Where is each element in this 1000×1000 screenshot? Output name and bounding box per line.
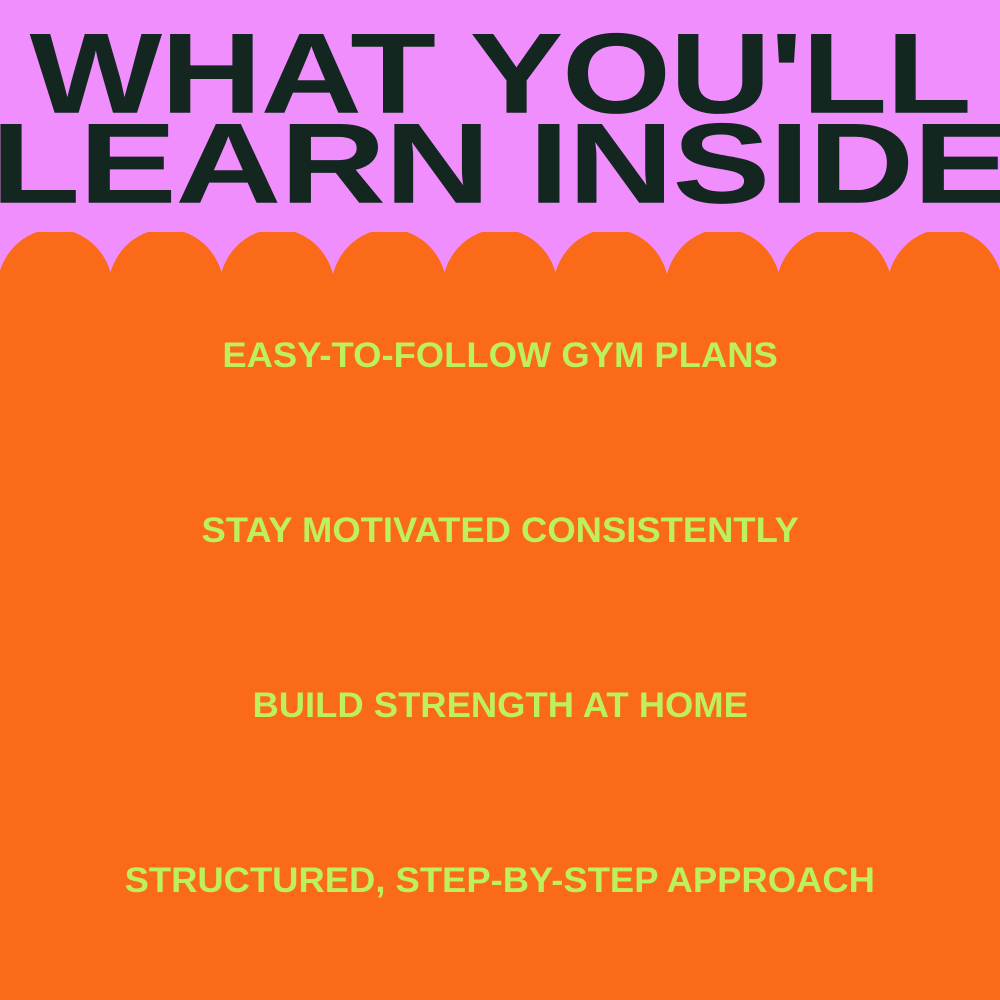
list-item: STRUCTURED, STEP-BY-STEP APPROACH — [0, 825, 1000, 1000]
benefit-label: EASY-TO-FOLLOW GYM PLANS — [222, 338, 777, 373]
list-item: EASY-TO-FOLLOW GYM PLANS — [0, 300, 1000, 475]
benefit-label: BUILD STRENGTH AT HOME — [252, 688, 747, 723]
list-item: STAY MOTIVATED CONSISTENTLY — [0, 475, 1000, 650]
promo-poster: WHAT YOU'LL LEARN INSIDE EASY-TO-FOLLOW … — [0, 0, 1000, 1000]
benefit-label: STAY MOTIVATED CONSISTENTLY — [201, 513, 798, 548]
list-item: BUILD STRENGTH AT HOME — [0, 650, 1000, 825]
headline-line-2: LEARN INSIDE — [0, 118, 1000, 210]
benefit-label: STRUCTURED, STEP-BY-STEP APPROACH — [125, 863, 875, 898]
benefits-list: EASY-TO-FOLLOW GYM PLANS STAY MOTIVATED … — [0, 300, 1000, 1000]
page-title: WHAT YOU'LL LEARN INSIDE — [0, 28, 1000, 205]
